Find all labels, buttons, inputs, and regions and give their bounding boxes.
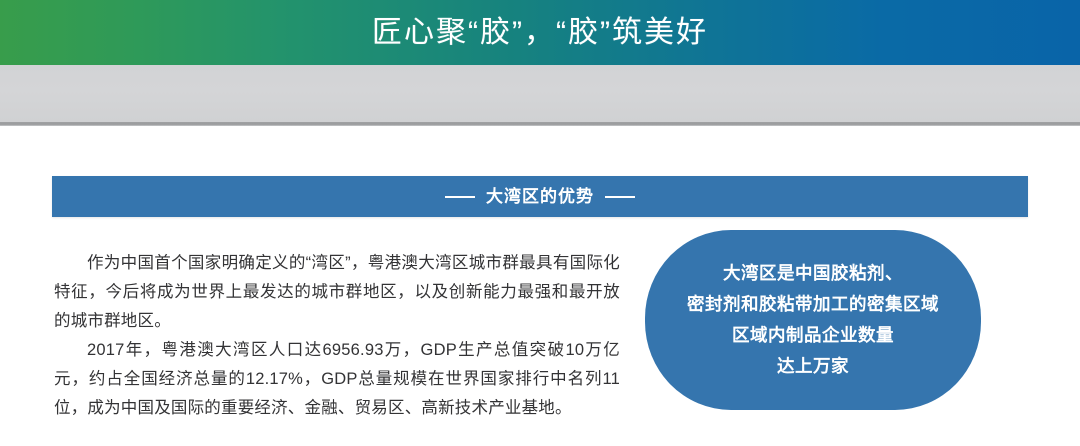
header-band: 匠心聚“胶”，“胶”筑美好 xyxy=(0,0,1080,65)
body-copy: 作为中国首个国家明确定义的“湾区”，粤港澳大湾区城市群最具有国际化特征，今后将成… xyxy=(54,249,620,423)
section-banner-title: 大湾区的优势 xyxy=(486,188,594,205)
section-banner: 大湾区的优势 xyxy=(52,176,1028,217)
callout-line-2: 密封剂和胶粘带加工的密集区域 xyxy=(687,289,939,320)
dash-left-icon xyxy=(445,196,475,198)
callout-line-4: 达上万家 xyxy=(777,351,849,382)
callout-line-3: 区域内制品企业数量 xyxy=(732,320,894,351)
callout-line-1: 大湾区是中国胶粘剂、 xyxy=(723,258,903,289)
page-title: 匠心聚“胶”，“胶”筑美好 xyxy=(372,18,708,48)
dash-right-icon xyxy=(605,196,635,198)
content-area: 大湾区的优势 作为中国首个国家明确定义的“湾区”，粤港澳大湾区城市群最具有国际化… xyxy=(0,126,1080,446)
paragraph-1: 作为中国首个国家明确定义的“湾区”，粤港澳大湾区城市群最具有国际化特征，今后将成… xyxy=(54,249,620,336)
section-banner-inner: 大湾区的优势 xyxy=(445,188,635,205)
highlight-callout: 大湾区是中国胶粘剂、 密封剂和胶粘带加工的密集区域 区域内制品企业数量 达上万家 xyxy=(645,230,981,410)
gray-separator-band xyxy=(0,65,1080,122)
paragraph-2: 2017年，粤港澳大湾区人口达6956.93万，GDP生产总值突破10万亿元，约… xyxy=(54,336,620,423)
